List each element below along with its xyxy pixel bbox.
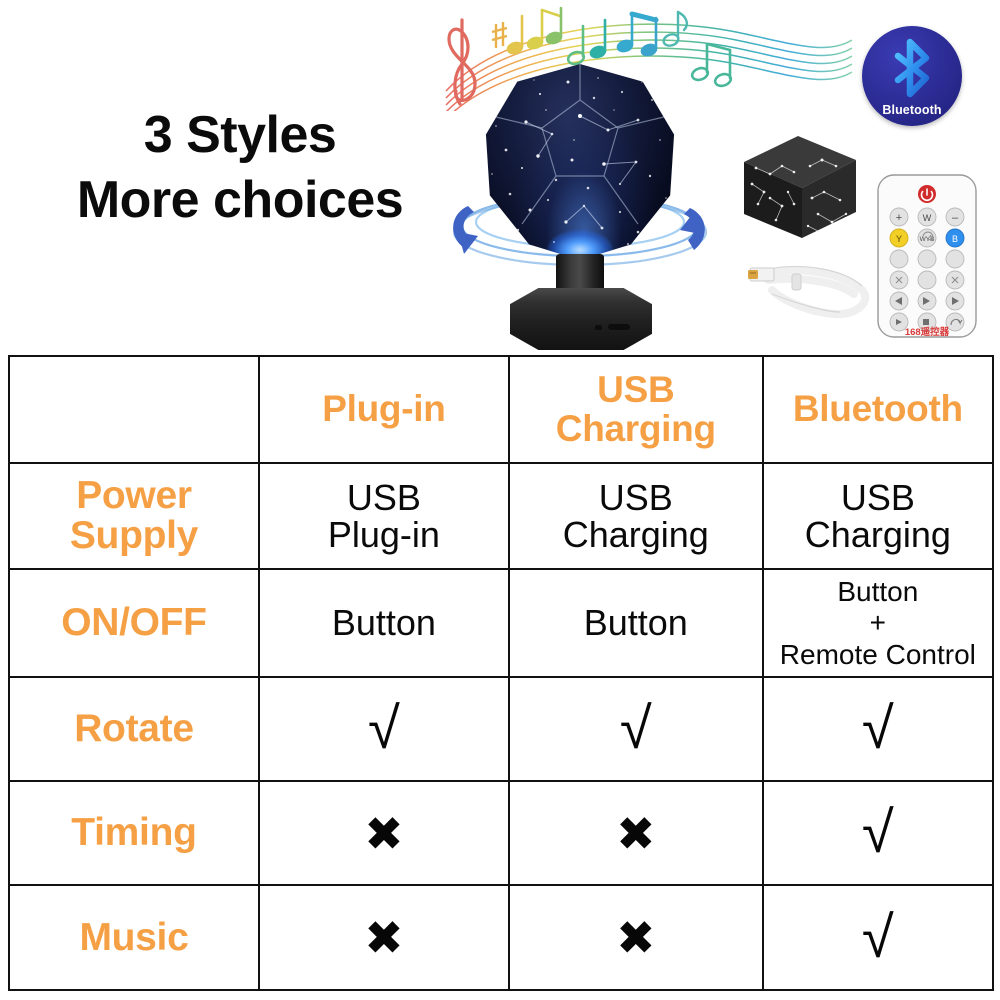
column-header-usb-charging: USB Charging (509, 356, 763, 463)
row-label-power-supply: Power Supply (9, 463, 259, 569)
cell-on-off-plug-in-line1: Button (332, 602, 436, 643)
star-projector-lamp (438, 62, 718, 355)
cell-music-bluetooth: √ (763, 885, 993, 990)
row-label-timing-line1: Timing (71, 811, 196, 854)
led-indicator (595, 325, 602, 330)
usb-cable (738, 246, 878, 324)
cell-timing-usb-charging: ✖ (509, 781, 763, 885)
table-row-music: Music ✖ ✖ √ (9, 885, 993, 990)
headline-line-1: 3 Styles (40, 108, 440, 163)
cell-on-off-bluetooth-line3: Remote Control (768, 639, 988, 670)
row-label-timing: Timing (9, 781, 259, 885)
cell-power-supply-plug-in: USB Plug-in (259, 463, 509, 569)
cell-music-plug-in: ✖ (259, 885, 509, 990)
row-label-music-line1: Music (79, 916, 188, 959)
cell-timing-plug-in: ✖ (259, 781, 509, 885)
cell-on-off-usb-charging-line1: Button (584, 602, 688, 643)
cell-power-supply-plug-in-line1: USB (347, 477, 421, 518)
cross-icon: ✖ (616, 810, 655, 857)
cell-rotate-bluetooth: √ (763, 677, 993, 781)
column-header-usb-charging-line2: Charging (514, 410, 758, 448)
table-row-rotate: Rotate √ √ √ (9, 677, 993, 781)
row-label-on-off: ON/OFF (9, 569, 259, 677)
column-header-plug-in: Plug-in (259, 356, 509, 463)
row-label-music: Music (9, 885, 259, 990)
svg-text:Y: Y (896, 234, 902, 244)
row-label-on-off-line1: ON/OFF (61, 601, 207, 644)
check-icon: √ (862, 700, 894, 758)
check-icon: √ (862, 909, 894, 967)
comparison-table-wrapper: Plug-in USB Charging Bluetooth (8, 355, 994, 989)
cell-power-supply-usb-charging-line1: USB (599, 477, 673, 518)
hero-banner: 3 Styles More choices (0, 0, 1000, 355)
lamp-base (510, 288, 652, 350)
table-header-row: Plug-in USB Charging Bluetooth (9, 356, 993, 463)
bluetooth-badge-label: Bluetooth (862, 103, 962, 117)
cell-rotate-plug-in: √ (259, 677, 509, 781)
remote-control: + W – Y WYB B 168遥控器 (872, 172, 982, 340)
svg-text:+: + (896, 212, 902, 224)
cell-rotate-usb-charging: √ (509, 677, 763, 781)
svg-text:W: W (923, 213, 932, 223)
check-icon: √ (620, 700, 652, 758)
table-corner-cell (9, 356, 259, 463)
table-row-on-off: ON/OFF Button Button Button + (9, 569, 993, 677)
cell-power-supply-plug-in-line2: Plug-in (264, 516, 504, 553)
bluetooth-icon (886, 38, 938, 98)
column-header-plug-in-line1: Plug-in (322, 388, 445, 429)
row-label-rotate-line1: Rotate (74, 707, 194, 750)
check-icon: √ (862, 804, 894, 862)
cell-on-off-bluetooth: Button + Remote Control (763, 569, 993, 677)
check-icon: √ (368, 700, 400, 758)
svg-text:–: – (952, 212, 959, 224)
cell-on-off-bluetooth-line2: + (768, 607, 988, 638)
row-label-power-supply-line1: Power (76, 474, 192, 517)
cross-icon: ✖ (616, 914, 655, 961)
column-header-bluetooth: Bluetooth (763, 356, 993, 463)
cell-power-supply-bluetooth: USB Charging (763, 463, 993, 569)
constellation-gift-box (736, 122, 864, 246)
column-header-bluetooth-line1: Bluetooth (793, 388, 963, 429)
cell-power-supply-usb-charging-line2: Charging (514, 516, 758, 553)
cross-icon: ✖ (364, 914, 403, 961)
table-row-power-supply: Power Supply USB Plug-in USB Charging (9, 463, 993, 569)
cell-power-supply-bluetooth-line2: Charging (768, 516, 988, 553)
cell-music-usb-charging: ✖ (509, 885, 763, 990)
comparison-table: Plug-in USB Charging Bluetooth (8, 355, 994, 991)
headline-line-2: More choices (40, 173, 440, 228)
bluetooth-badge: Bluetooth (862, 26, 962, 126)
cell-power-supply-bluetooth-line1: USB (841, 477, 915, 518)
usb-port (608, 324, 630, 330)
cell-power-supply-usb-charging: USB Charging (509, 463, 763, 569)
row-label-rotate: Rotate (9, 677, 259, 781)
cell-on-off-plug-in: Button (259, 569, 509, 677)
headline-block: 3 Styles More choices (40, 108, 440, 228)
remote-footer-label: 168遥控器 (905, 326, 950, 338)
svg-text:B: B (952, 234, 958, 244)
cell-on-off-bluetooth-line1: Button (837, 576, 918, 607)
cell-timing-bluetooth: √ (763, 781, 993, 885)
column-header-usb-charging-line1: USB (597, 369, 674, 410)
cross-icon: ✖ (364, 810, 403, 857)
cell-on-off-usb-charging: Button (509, 569, 763, 677)
table-row-timing: Timing ✖ ✖ √ (9, 781, 993, 885)
row-label-power-supply-line2: Supply (14, 516, 254, 556)
